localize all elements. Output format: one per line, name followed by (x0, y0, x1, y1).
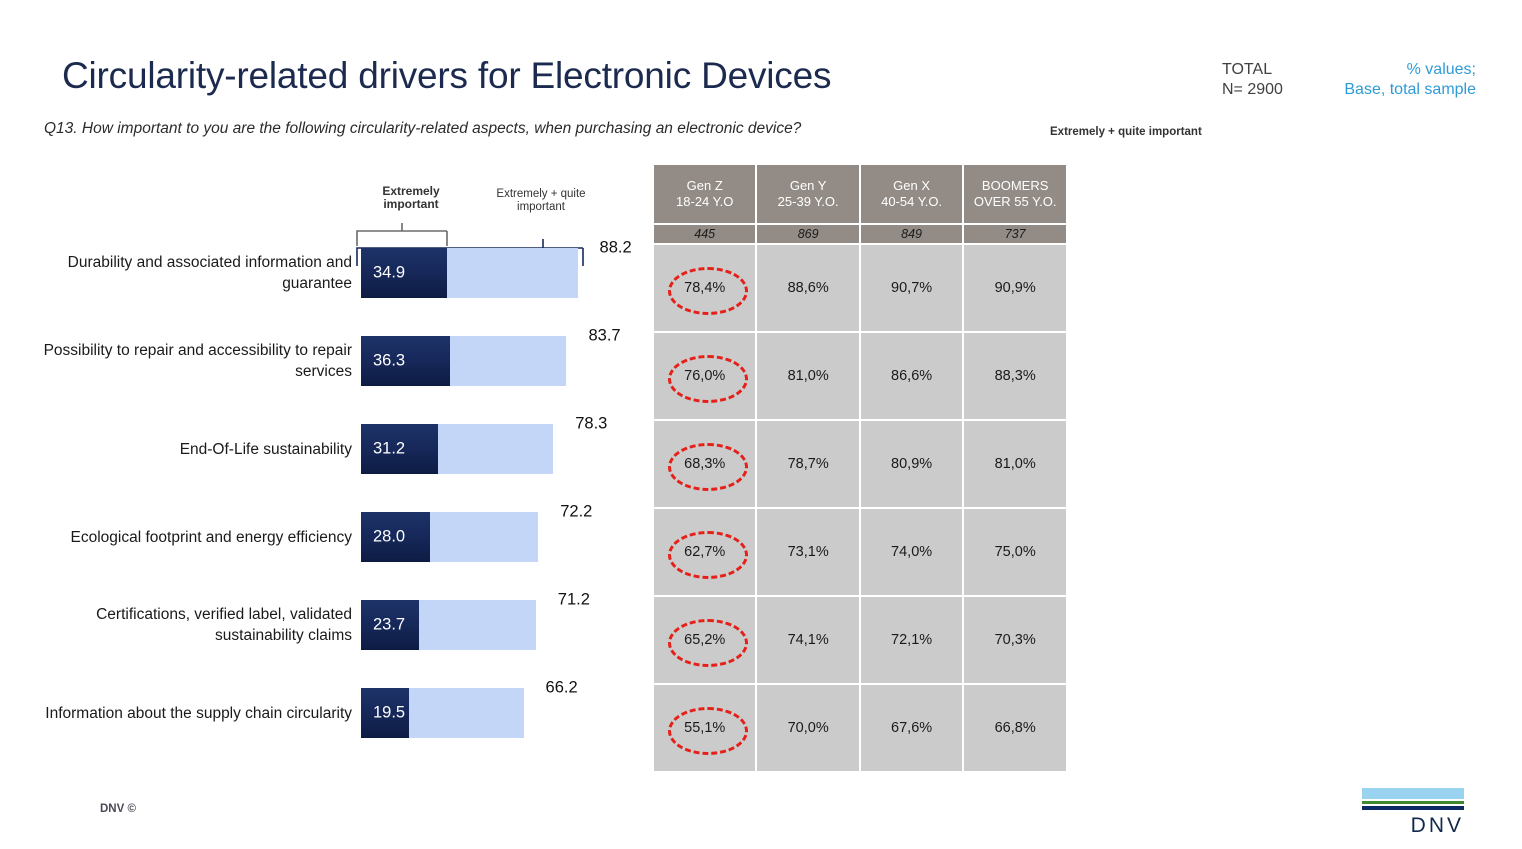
stacked-bar: 31.2 (361, 424, 553, 474)
bar-segment-extremely-important: 36.3 (361, 336, 450, 386)
table-cell: 74,0% (861, 509, 962, 595)
table-cell: 75,0% (964, 509, 1066, 595)
bar-segment-extremely-important: 28.0 (361, 512, 430, 562)
table-column-header: BOOMERSOVER 55 Y.O. (964, 165, 1066, 223)
table-cell: 74,1% (757, 597, 858, 683)
bar-segment-value: 28.0 (373, 528, 405, 547)
highlighted-value: 78,4% (684, 280, 725, 296)
table-cell: 78,7% (757, 421, 858, 507)
base-size-cell: 737 (964, 225, 1066, 243)
bar-segment-extremely-important: 31.2 (361, 424, 438, 474)
stacked-bar: 36.3 (361, 336, 566, 386)
cell-value: 81,0% (995, 456, 1036, 472)
generation-table: Gen Z18-24 Y.OGen Y25-39 Y.O.Gen X40-54 … (652, 163, 1068, 773)
table-cell: 70,3% (964, 597, 1066, 683)
stacked-bar: 19.5 (361, 688, 524, 738)
highlighted-value: 76,0% (684, 368, 725, 384)
table-cell: 55,1% (654, 685, 755, 771)
table-cell: 88,6% (757, 245, 858, 331)
bar-row-label: Certifications, verified label, validate… (12, 604, 352, 646)
bar-segment-value: 19.5 (373, 704, 405, 723)
table-base-row: 445869849737 (654, 225, 1066, 243)
table-cell: 86,6% (861, 333, 962, 419)
table-cell: 80,9% (861, 421, 962, 507)
column-header-line1: BOOMERS (964, 178, 1066, 194)
dnv-logo: DNV (1362, 788, 1464, 838)
cell-value: 86,6% (891, 368, 932, 384)
bracket-label-extremely-line2: important (355, 198, 467, 211)
column-header-line2: OVER 55 Y.O. (964, 194, 1066, 210)
column-header-line1: Gen X (861, 178, 962, 194)
cell-value: 78,7% (788, 456, 829, 472)
logo-band-navy (1362, 806, 1464, 810)
table-cell: 65,2% (654, 597, 755, 683)
bar-total-value: 78.3 (575, 415, 607, 434)
bracket-label-extremely: Extremely important (355, 185, 467, 211)
table-cell: 88,3% (964, 333, 1066, 419)
table-cell: 81,0% (964, 421, 1066, 507)
highlighted-value: 55,1% (684, 720, 725, 736)
column-header-line1: Gen Z (654, 178, 755, 194)
table-cell: 73,1% (757, 509, 858, 595)
table-cell: 62,7% (654, 509, 755, 595)
bar-segment-quite-important (438, 424, 554, 474)
bar-segment-extremely-important: 19.5 (361, 688, 409, 738)
logo-band-green (1362, 801, 1464, 804)
table-row: 76,0%81,0%86,6%88,3% (654, 333, 1066, 419)
total-base-block: TOTAL N= 2900 (1222, 60, 1283, 100)
bar-row-label: Information about the supply chain circu… (12, 692, 352, 734)
table-cell: 70,0% (757, 685, 858, 771)
table-cell: 78,4% (654, 245, 755, 331)
sample-note-block: % values; Base, total sample (1322, 60, 1476, 100)
cell-value: 72,1% (891, 632, 932, 648)
table-cell: 66,8% (964, 685, 1066, 771)
table-column-header: Gen Y25-39 Y.O. (757, 165, 858, 223)
table-cell: 90,9% (964, 245, 1066, 331)
cell-value: 66,8% (995, 720, 1036, 736)
bar-total-value: 83.7 (588, 327, 620, 346)
table-row: 68,3%78,7%80,9%81,0% (654, 421, 1066, 507)
table-cell: 76,0% (654, 333, 755, 419)
stacked-bar: 23.7 (361, 600, 536, 650)
column-header-line2: 25-39 Y.O. (757, 194, 858, 210)
table-column-header: Gen Z18-24 Y.O (654, 165, 755, 223)
bar-row-label: Durability and associated information an… (12, 252, 352, 294)
column-header-line2: 18-24 Y.O (654, 194, 755, 210)
bar-segment-extremely-important: 23.7 (361, 600, 419, 650)
cell-value: 74,0% (891, 544, 932, 560)
bar-segment-quite-important (450, 336, 566, 386)
cell-value: 70,3% (995, 632, 1036, 648)
cell-value: 88,6% (788, 280, 829, 296)
bar-segment-quite-important (419, 600, 536, 650)
bar-segment-quite-important (447, 248, 578, 298)
cell-value: 73,1% (788, 544, 829, 560)
logo-text: DNV (1362, 814, 1464, 838)
bar-total-value: 88.2 (600, 239, 632, 258)
cell-value: 90,7% (891, 280, 932, 296)
bar-segment-quite-important (409, 688, 524, 738)
stacked-bar: 28.0 (361, 512, 538, 562)
question-text: Q13. How important to you are the follow… (44, 120, 801, 138)
bar-segment-value: 34.9 (373, 264, 405, 283)
base-total-sample-note: Base, total sample (1322, 80, 1476, 100)
stacked-bar: 34.9 (361, 248, 578, 298)
cell-value: 74,1% (788, 632, 829, 648)
table-cell: 90,7% (861, 245, 962, 331)
bar-segment-extremely-important: 34.9 (361, 248, 447, 298)
highlighted-value: 62,7% (684, 544, 725, 560)
bar-row-label: Possibility to repair and accessibility … (12, 340, 352, 382)
cell-value: 67,6% (891, 720, 932, 736)
cell-value: 81,0% (788, 368, 829, 384)
table-cell: 67,6% (861, 685, 962, 771)
logo-band-lightblue (1362, 788, 1464, 799)
bar-row-label: Ecological footprint and energy efficien… (12, 516, 352, 558)
cell-value: 75,0% (995, 544, 1036, 560)
cell-value: 88,3% (995, 368, 1036, 384)
footer-copyright: DNV © (100, 803, 136, 815)
bar-segment-value: 31.2 (373, 440, 405, 459)
percent-values-note: % values; (1322, 60, 1476, 80)
bar-segment-value: 36.3 (373, 352, 405, 371)
bar-total-value: 66.2 (546, 679, 578, 698)
page-title: Circularity-related drivers for Electron… (62, 55, 831, 97)
column-header-line1: Gen Y (757, 178, 858, 194)
table-row: 78,4%88,6%90,7%90,9% (654, 245, 1066, 331)
base-size-cell: 445 (654, 225, 755, 243)
total-label: TOTAL (1222, 60, 1283, 80)
bar-segment-value: 23.7 (373, 616, 405, 635)
highlighted-value: 65,2% (684, 632, 725, 648)
column-header-line2: 40-54 Y.O. (861, 194, 962, 210)
cell-value: 80,9% (891, 456, 932, 472)
total-n-value: N= 2900 (1222, 80, 1283, 100)
table-header-row: Gen Z18-24 Y.OGen Y25-39 Y.O.Gen X40-54 … (654, 165, 1066, 223)
table-cell: 68,3% (654, 421, 755, 507)
bar-segment-quite-important (430, 512, 539, 562)
table-cell: 72,1% (861, 597, 962, 683)
table-row: 62,7%73,1%74,0%75,0% (654, 509, 1066, 595)
table-cell: 81,0% (757, 333, 858, 419)
cell-value: 90,9% (995, 280, 1036, 296)
bar-total-value: 72.2 (560, 503, 592, 522)
table-row: 55,1%70,0%67,6%66,8% (654, 685, 1066, 771)
bar-total-value: 71.2 (558, 591, 590, 610)
table-row: 65,2%74,1%72,1%70,3% (654, 597, 1066, 683)
cell-value: 70,0% (788, 720, 829, 736)
bracket-label-extremely-quite-line2: important (470, 201, 612, 214)
bracket-label-extremely-quite-line1: Extremely + quite (470, 188, 612, 201)
bracket-label-extremely-quite: Extremely + quite important (470, 188, 612, 214)
table-column-header: Gen X40-54 Y.O. (861, 165, 962, 223)
highlighted-value: 68,3% (684, 456, 725, 472)
table-legend-note: Extremely + quite important (1050, 126, 1202, 138)
bar-row-label: End-Of-Life sustainability (12, 428, 352, 470)
base-size-cell: 849 (861, 225, 962, 243)
base-size-cell: 869 (757, 225, 858, 243)
